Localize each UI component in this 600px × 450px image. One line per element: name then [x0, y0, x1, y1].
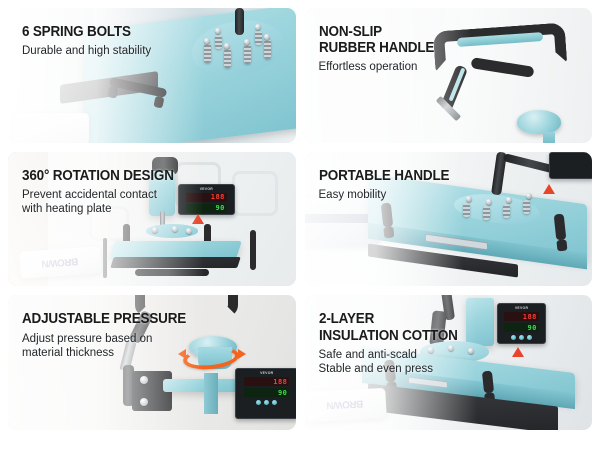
rotation-ghost-2: [232, 171, 278, 217]
controller-temp-display: 188: [504, 312, 539, 321]
controller-button-3[interactable]: [527, 335, 532, 340]
warning-triangle-icon: [543, 184, 555, 194]
spring-4: [264, 39, 271, 59]
controller-button-2[interactable]: [519, 335, 524, 340]
controller-button-2[interactable]: [264, 400, 269, 405]
feature-grid: 6 SPRING BOLTS Durable and high stabilit…: [0, 0, 600, 450]
rotation-arrow-right: [238, 349, 246, 359]
control-panel-portable[interactable]: [549, 152, 592, 179]
controller-time-display: 90: [504, 323, 539, 332]
controller-button-1[interactable]: [511, 335, 516, 340]
spring-3: [503, 204, 510, 218]
feature-panel-adjustable-pressure: VEVOR 188 90 ADJUSTABLE PRESSURE Adjust …: [8, 295, 296, 430]
bolt-1: [204, 38, 210, 44]
controller-brand: VEVOR: [236, 371, 295, 375]
panel-subtitle: Easy mobility: [319, 188, 459, 202]
platen-handle-right[interactable]: [482, 370, 494, 393]
knob-shaft: [543, 132, 555, 143]
caption-adjustable-pressure: ADJUSTABLE PRESSURE Adjust pressure base…: [22, 311, 198, 360]
feature-panel-spring-bolts: 6 SPRING BOLTS Durable and high stabilit…: [8, 8, 296, 143]
spring-4: [523, 200, 530, 214]
controller-temp-display: 188: [244, 377, 289, 386]
caption-rubber-handle: NON-SLIP RUBBER HANDLE Effortless operat…: [319, 24, 443, 75]
adjustment-knob[interactable]: [517, 110, 561, 134]
controller-buttons[interactable]: [498, 335, 545, 340]
controller-button-3[interactable]: [272, 400, 277, 405]
spring-1: [204, 43, 211, 63]
panel-subtitle: Durable and high stability: [22, 44, 151, 58]
panel-subtitle: Prevent accidental contact with heating …: [22, 188, 185, 217]
bolt-3: [244, 39, 250, 45]
bolt-2: [224, 43, 230, 49]
spring-2: [483, 206, 490, 220]
panel-subtitle: Adjust pressure based on material thickn…: [22, 332, 198, 361]
panel-subtitle: Safe and anti-scald Stable and even pres…: [319, 348, 468, 377]
control-panel-insulation[interactable]: VEVOR 188 90: [497, 303, 546, 343]
feature-panel-insulation-cotton: VEVOR 188 90 BROWN 2: [305, 295, 593, 430]
caption-rotation-design: 360° ROTATION DESIGN Prevent accidental …: [22, 168, 185, 217]
panel-title: 360° ROTATION DESIGN: [22, 168, 174, 184]
center-post: [235, 8, 244, 35]
bolt-2: [486, 199, 492, 205]
panel-title: NON-SLIP RUBBER HANDLE: [319, 24, 434, 56]
feature-panel-rotation-design: VEVOR 188 90 BROWN 360° ROTATION D: [8, 152, 296, 287]
stand-leg-right: [250, 230, 256, 270]
spring-5: [215, 35, 222, 49]
feature-panel-portable-handle: PORTABLE HANDLE Easy mobility: [305, 152, 593, 287]
caption-spring-bolts: 6 SPRING BOLTS Durable and high stabilit…: [22, 24, 151, 59]
caption-portable-handle: PORTABLE HANDLE Easy mobility: [319, 168, 459, 203]
spring-3: [244, 44, 251, 64]
panel-title: ADJUSTABLE PRESSURE: [22, 311, 186, 327]
spring-1: [463, 203, 470, 217]
bolt-4: [264, 34, 270, 40]
warning-triangle-icon: [512, 347, 524, 357]
controller-buttons[interactable]: [236, 400, 295, 405]
panel-title: 6 SPRING BOLTS: [22, 24, 142, 40]
spring-6: [255, 31, 262, 45]
knob-column: [204, 373, 218, 413]
panel-title: 2-LAYER INSULATION COTTON: [319, 311, 458, 343]
controller-button-1[interactable]: [256, 400, 261, 405]
panel-subtitle: Effortless operation: [319, 60, 443, 74]
panel-title: PORTABLE HANDLE: [319, 168, 449, 184]
bolt-1: [466, 196, 472, 202]
control-panel-pressure[interactable]: VEVOR 188 90: [235, 368, 295, 419]
controller-time-display: 90: [244, 388, 289, 397]
portable-handle-right[interactable]: [553, 213, 566, 240]
feature-panel-rubber-handle: NON-SLIP RUBBER HANDLE Effortless operat…: [305, 8, 593, 143]
controller-brand: VEVOR: [498, 306, 545, 310]
spring-2: [224, 48, 231, 68]
caption-insulation-cotton: 2-LAYER INSULATION COTTON Safe and anti-…: [319, 311, 468, 376]
